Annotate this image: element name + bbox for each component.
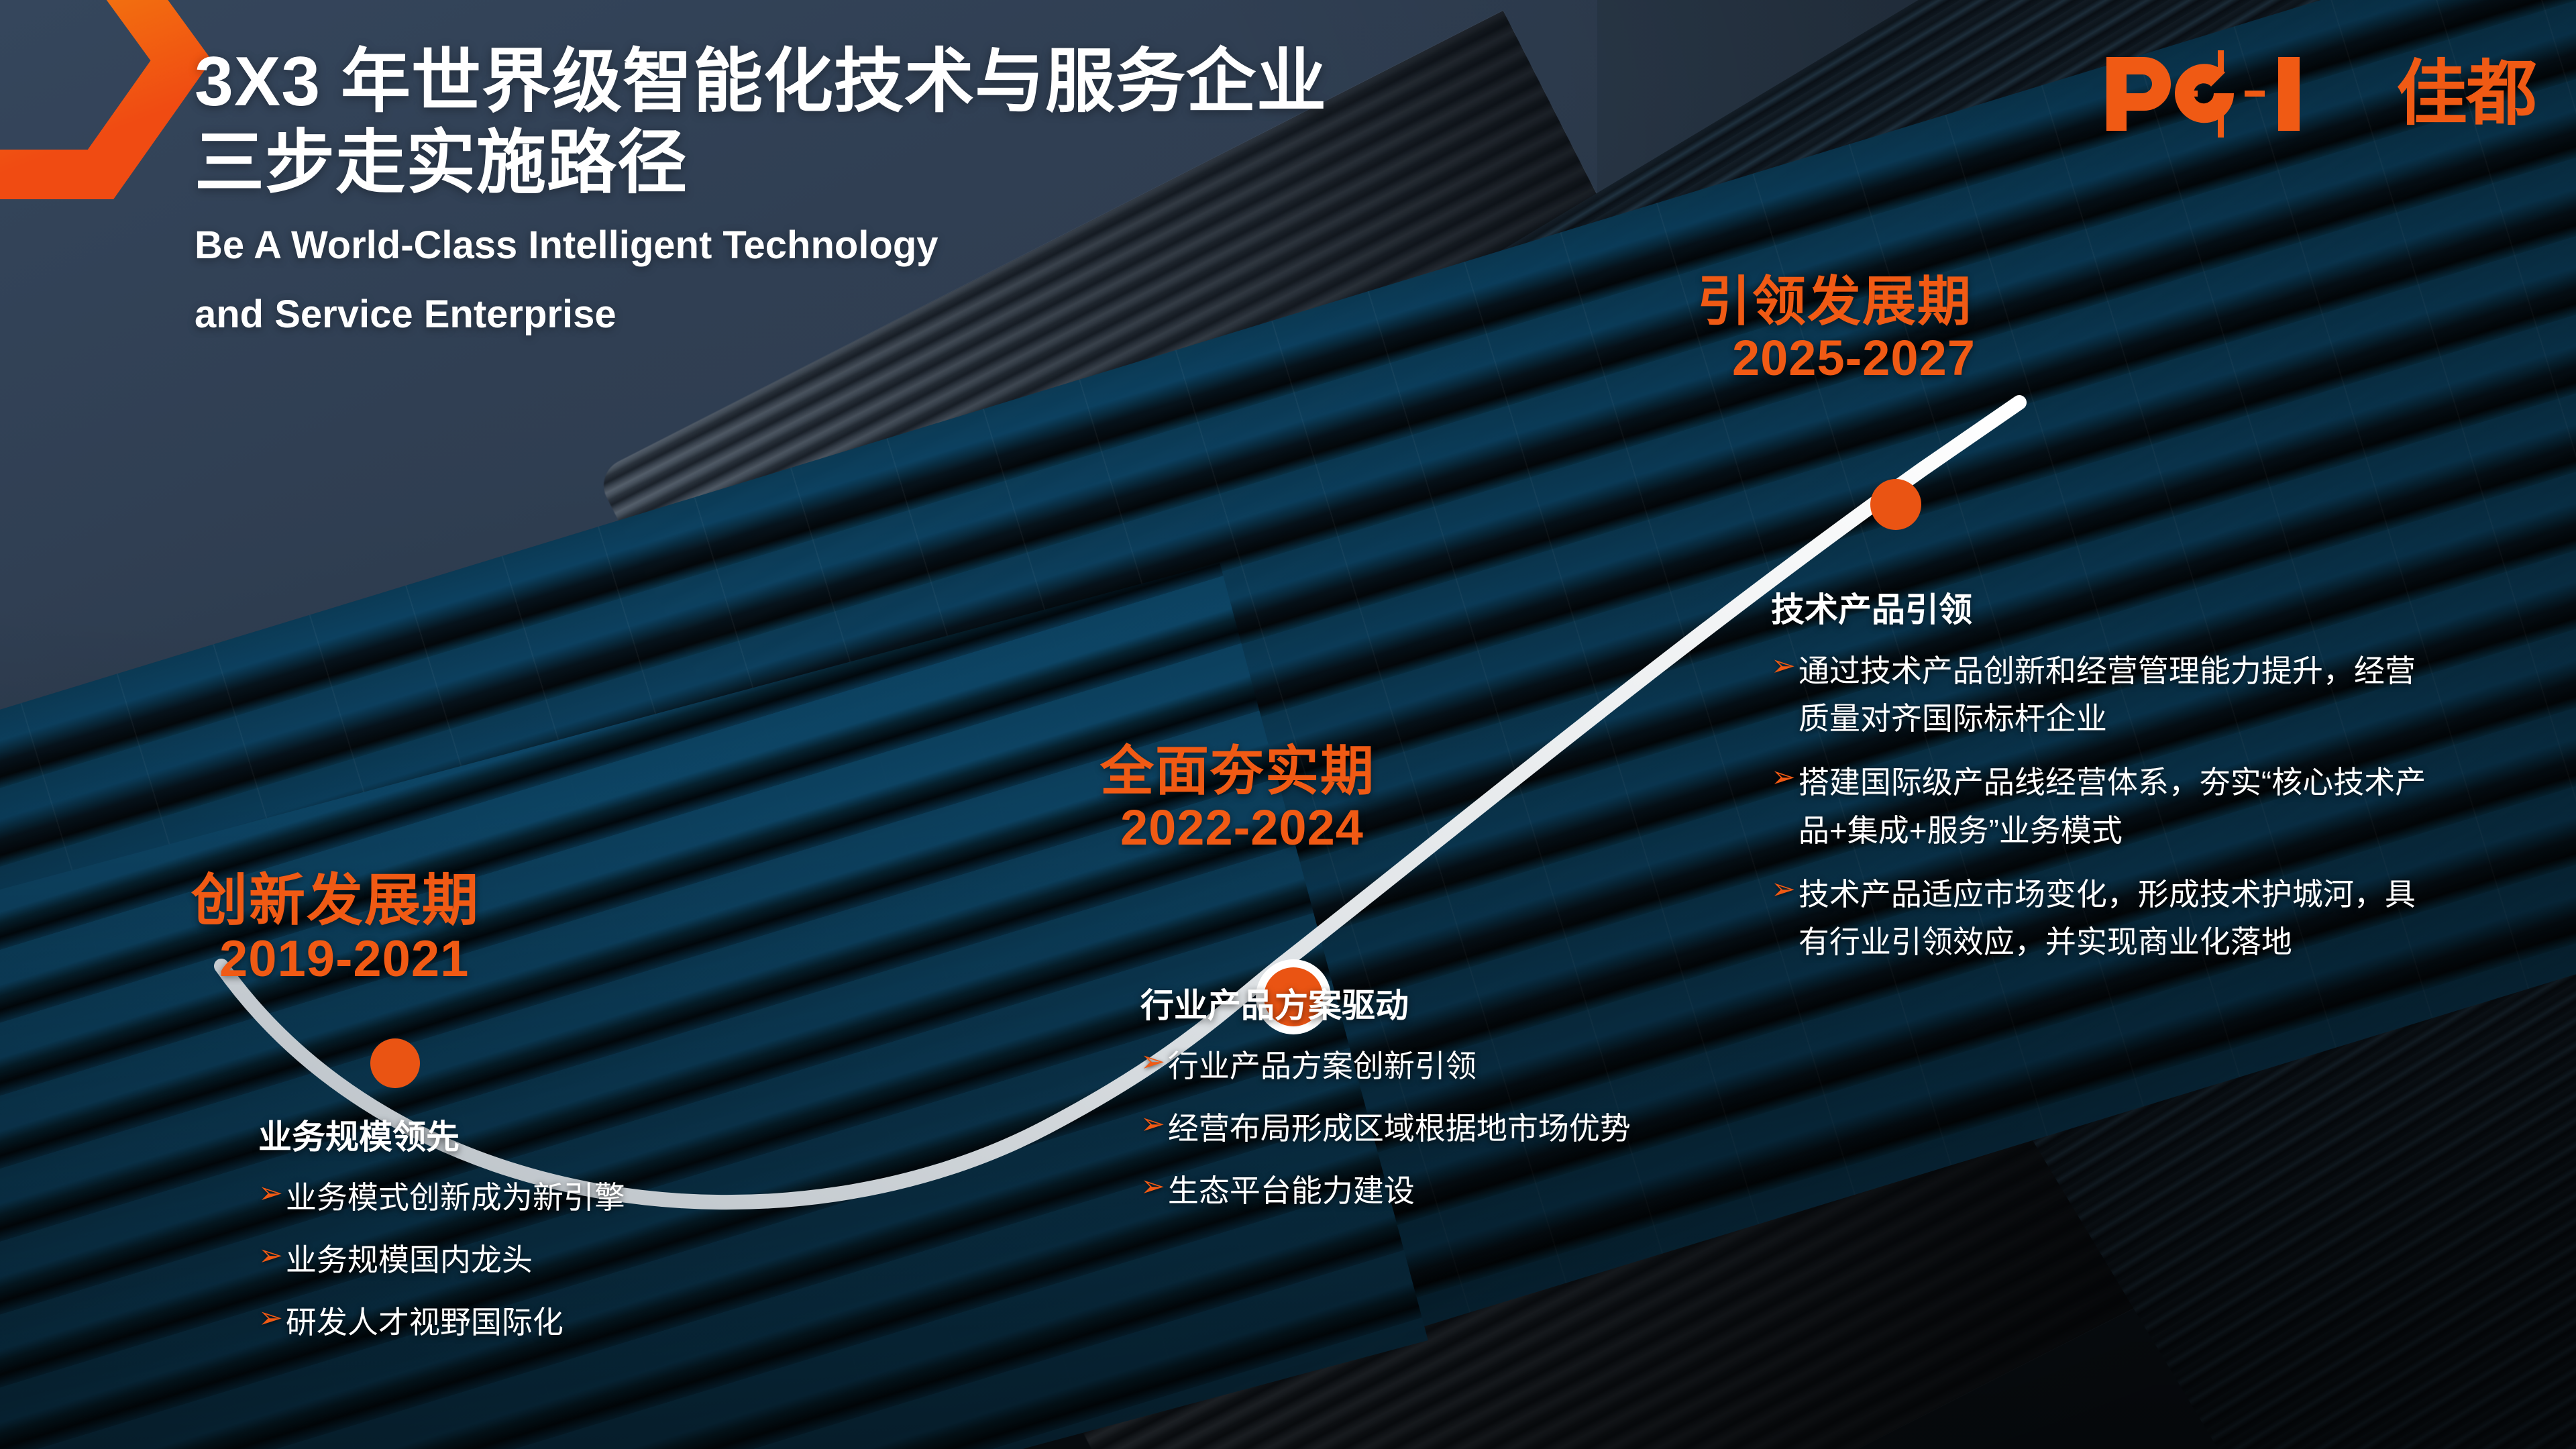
arrow-bullet-icon: ➢ bbox=[258, 1237, 283, 1275]
stage-1-subtitle: 业务规模领先 bbox=[258, 1117, 625, 1157]
title-en-line2: and Service Enterprise bbox=[195, 288, 1737, 341]
title-en-line1: Be A World-Class Intelligent Technology bbox=[195, 219, 1737, 272]
stage-3-bullet-3: 技术产品适应市场变化，形成技术护城河，具有行业引领效应，并实现商业化落地 bbox=[1799, 871, 2442, 967]
stage-2-header: 全面夯实期 2022-2024 bbox=[1100, 745, 1631, 858]
arrow-bullet-icon: ➢ bbox=[1771, 871, 1796, 908]
stage-2-years: 2022-2024 bbox=[1120, 798, 1631, 858]
stage-block-2: 全面夯实期 2022-2024 行业产品方案驱动 ➢ 行业产品方案创新引领 ➢ … bbox=[1100, 745, 1631, 1230]
stage-2-body: 行业产品方案驱动 ➢ 行业产品方案创新引领 ➢ 经营布局形成区域根据地市场优势 … bbox=[1140, 985, 1631, 1214]
stage-1-body: 业务规模领先 ➢ 业务模式创新成为新引擎 ➢ 业务规模国内龙头 ➢ 研发人才视野… bbox=[258, 1117, 625, 1346]
stage-1-bullet-3: 研发人才视野国际化 bbox=[286, 1299, 563, 1346]
pci-logo-icon bbox=[2102, 50, 2384, 138]
brand-name-cn: 佳都 bbox=[2396, 58, 2536, 129]
list-item: ➢ 通过技术产品创新和经营管理能力提升，经营质量对齐国际标杆企业 bbox=[1771, 647, 2442, 743]
stage-2-bullet-3: 生态平台能力建设 bbox=[1168, 1168, 1415, 1214]
stage-3-subtitle: 技术产品引领 bbox=[1771, 590, 2442, 630]
title-cn-line2: 三步走实施路径 bbox=[195, 123, 1737, 204]
stage-1-header: 创新发展期 2019-2021 bbox=[191, 872, 625, 989]
list-item: ➢ 研发人才视野国际化 bbox=[258, 1299, 625, 1346]
stage-3-header: 引领发展期 2025-2027 bbox=[1697, 275, 2442, 388]
arrow-bullet-icon: ➢ bbox=[258, 1175, 283, 1212]
stage-3-bullet-2: 搭建国际级产品线经营体系，夯实“核心技术产品+集成+服务”业务模式 bbox=[1799, 759, 2442, 855]
stage-2-bullet-1: 行业产品方案创新引领 bbox=[1168, 1043, 1477, 1089]
stage-3-bullet-list: ➢ 通过技术产品创新和经营管理能力提升，经营质量对齐国际标杆企业 ➢ 搭建国际级… bbox=[1771, 647, 2442, 967]
list-item: ➢ 业务模式创新成为新引擎 bbox=[258, 1175, 625, 1221]
stage-2-name: 全面夯实期 bbox=[1100, 745, 1631, 798]
list-item: ➢ 技术产品适应市场变化，形成技术护城河，具有行业引领效应，并实现商业化落地 bbox=[1771, 871, 2442, 967]
stage-1-name: 创新发展期 bbox=[191, 872, 625, 928]
stage-block-1: 创新发展期 2019-2021 业务规模领先 ➢ 业务模式创新成为新引擎 ➢ 业… bbox=[191, 872, 625, 1362]
stage-1-bullet-1: 业务模式创新成为新引擎 bbox=[286, 1175, 625, 1221]
list-item: ➢ 行业产品方案创新引领 bbox=[1140, 1043, 1631, 1089]
stage-1-years: 2019-2021 bbox=[219, 928, 625, 989]
list-item: ➢ 生态平台能力建设 bbox=[1140, 1168, 1631, 1214]
arrow-bullet-icon: ➢ bbox=[1140, 1043, 1165, 1081]
arrow-bullet-icon: ➢ bbox=[258, 1299, 283, 1337]
stage-2-subtitle: 行业产品方案驱动 bbox=[1140, 985, 1631, 1026]
list-item: ➢ 搭建国际级产品线经营体系，夯实“核心技术产品+集成+服务”业务模式 bbox=[1771, 759, 2442, 855]
stage-1-bullet-2: 业务规模国内龙头 bbox=[286, 1237, 533, 1283]
arrow-bullet-icon: ➢ bbox=[1771, 759, 1796, 796]
list-item: ➢ 经营布局形成区域根据地市场优势 bbox=[1140, 1106, 1631, 1152]
brand-logo: 佳都 bbox=[2102, 50, 2536, 138]
stage-1-bullet-list: ➢ 业务模式创新成为新引擎 ➢ 业务规模国内龙头 ➢ 研发人才视野国际化 bbox=[258, 1175, 625, 1346]
stage-3-years: 2025-2027 bbox=[1732, 329, 2442, 388]
stage-3-body: 技术产品引领 ➢ 通过技术产品创新和经营管理能力提升，经营质量对齐国际标杆企业 … bbox=[1771, 590, 2442, 967]
arrow-bullet-icon: ➢ bbox=[1140, 1168, 1165, 1205]
arrow-bullet-icon: ➢ bbox=[1771, 647, 1796, 685]
stage-2-bullet-list: ➢ 行业产品方案创新引领 ➢ 经营布局形成区域根据地市场优势 ➢ 生态平台能力建… bbox=[1140, 1043, 1631, 1214]
stage-2-bullet-2: 经营布局形成区域根据地市场优势 bbox=[1168, 1106, 1631, 1152]
title-cn-line1: 3X3 年世界级智能化技术与服务企业 bbox=[195, 42, 1737, 123]
stage-block-3: 引领发展期 2025-2027 技术产品引领 ➢ 通过技术产品创新和经营管理能力… bbox=[1697, 275, 2442, 983]
arrow-bullet-icon: ➢ bbox=[1140, 1106, 1165, 1143]
list-item: ➢ 业务规模国内龙头 bbox=[258, 1237, 625, 1283]
stage-3-name: 引领发展期 bbox=[1697, 275, 2442, 329]
page-title: 3X3 年世界级智能化技术与服务企业 三步走实施路径 Be A World-Cl… bbox=[195, 42, 1737, 341]
slide-root: 3X3 年世界级智能化技术与服务企业 三步走实施路径 Be A World-Cl… bbox=[0, 0, 2576, 1449]
stage-3-bullet-1: 通过技术产品创新和经营管理能力提升，经营质量对齐国际标杆企业 bbox=[1799, 647, 2442, 743]
